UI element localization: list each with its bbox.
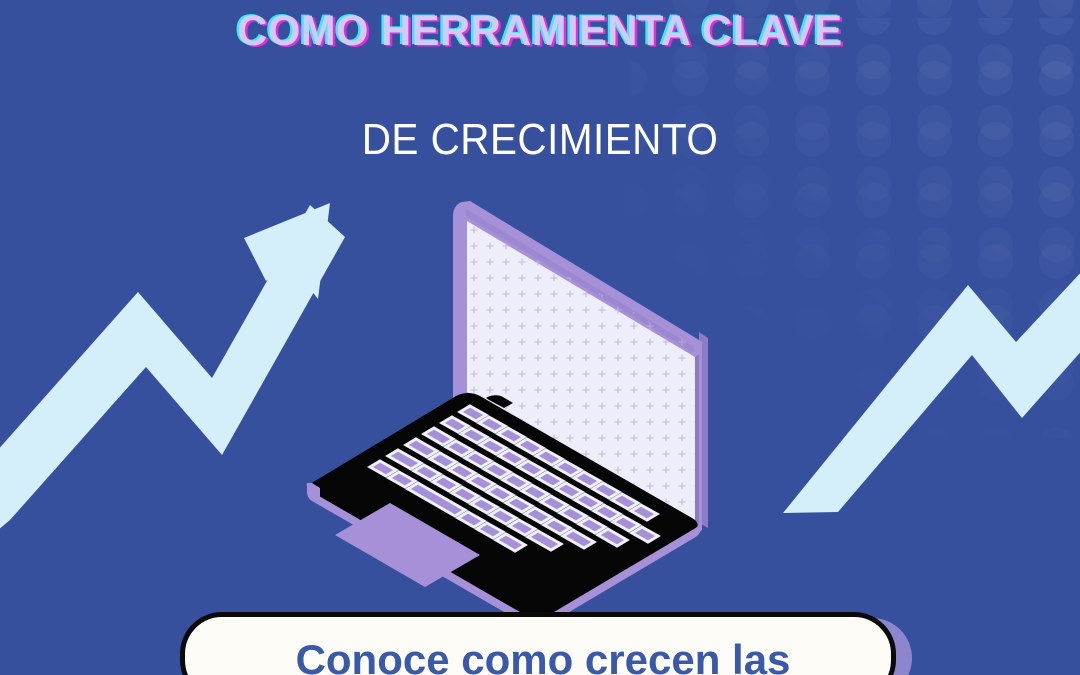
- bottom-card-text: Conoce como crecen las: [185, 635, 901, 675]
- slide-canvas: Conoce como crecen las COMO HERRAMIENTA …: [0, 0, 1080, 675]
- headline-line-1: COMO HERRAMIENTA CLAVE: [16, 2, 1064, 60]
- bottom-card: Conoce como crecen las: [180, 612, 896, 675]
- headline-line-2: DE CRECIMIENTO: [43, 112, 1037, 168]
- isometric-laptop-icon: [290, 190, 730, 630]
- right-growth-arrow-icon: [783, 252, 1080, 513]
